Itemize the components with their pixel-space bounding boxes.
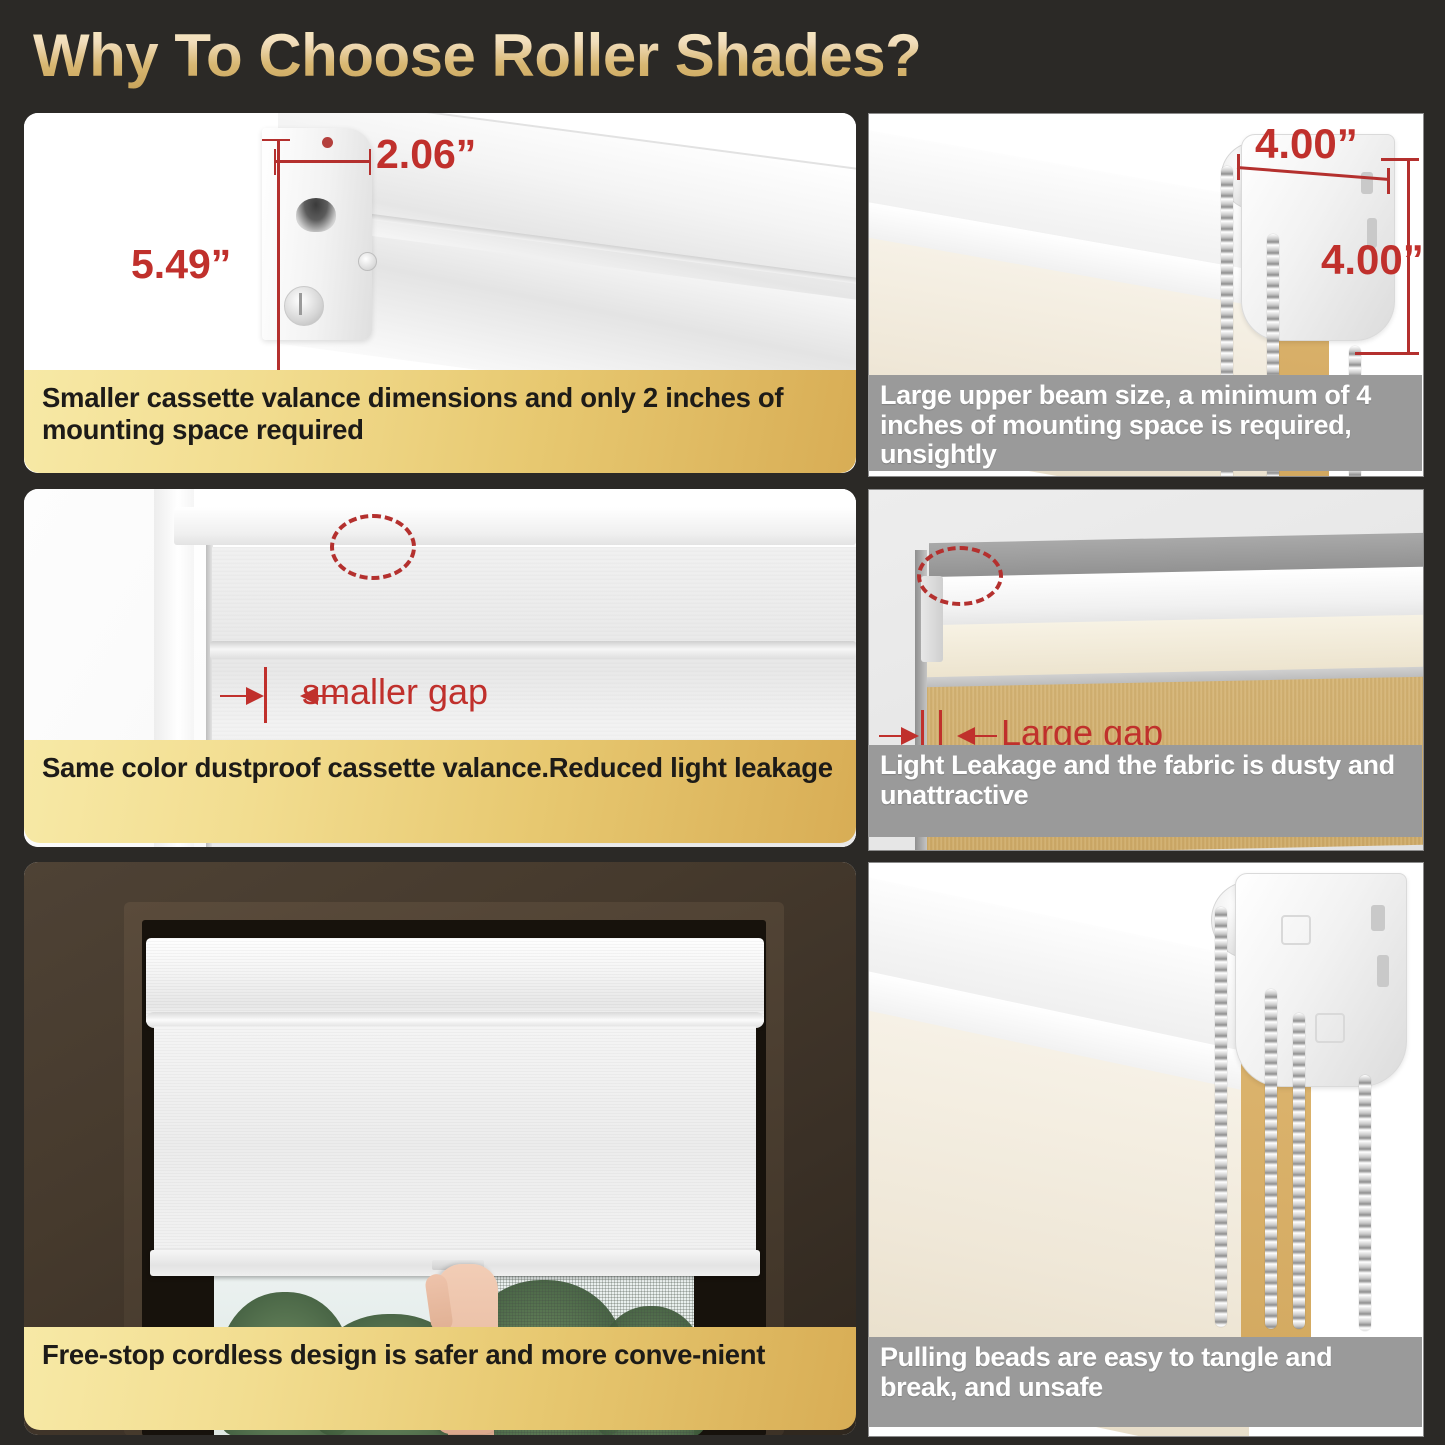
bracket-emboss-lower: [1315, 1013, 1345, 1043]
caption-text: Light Leakage and the fabric is dusty an…: [880, 750, 1402, 810]
caption-light-leakage-dusty-fabric: Light Leakage and the fabric is dusty an…: [868, 745, 1422, 837]
bead-chain-left: [1215, 907, 1227, 1327]
dimension-label-4-00-depth: 4.00”: [1321, 236, 1424, 284]
caption-text: Smaller cassette valance dimensions and …: [42, 382, 791, 445]
caption-text: Same color dustproof cassette valance.Re…: [42, 752, 833, 783]
dim-line-horizontal: [274, 160, 371, 163]
valance-slot-hole: [296, 198, 336, 232]
roller-shade-fabric: [154, 1026, 756, 1264]
valance-screw-small: [358, 252, 377, 271]
gap-marker: [264, 667, 267, 723]
caption-pulling-beads-unsafe: Pulling beads are easy to tangle and bre…: [868, 1337, 1422, 1427]
caption-large-upper-beam: Large upper beam size, a minimum of 4 in…: [868, 375, 1422, 471]
bracket-slot-lower: [1377, 955, 1389, 987]
caption-text: Pulling beads are easy to tangle and bre…: [880, 1342, 1339, 1402]
caption-text: Free-stop cordless design is safer and m…: [42, 1339, 765, 1370]
dashed-circle-annotation: [917, 546, 1003, 606]
dashed-circle-annotation: [330, 514, 416, 580]
dim-tick-v-top: [262, 139, 290, 141]
bracket-slot-upper: [1371, 905, 1385, 931]
window-head-casing: [174, 507, 856, 545]
dim-tick-v-top: [1381, 158, 1419, 161]
caption-cassette-valance-dimensions: Smaller cassette valance dimensions and …: [24, 370, 856, 473]
gap-arrow-left-icon: [220, 677, 290, 713]
caption-free-stop-cordless-design: Free-stop cordless design is safer and m…: [24, 1327, 856, 1430]
bead-chain-middle: [1265, 989, 1277, 1329]
dimension-label-2-06: 2.06”: [376, 131, 476, 178]
bead-chain-middle-2: [1293, 1013, 1305, 1329]
caption-dustproof-cassette-valance: Same color dustproof cassette valance.Re…: [24, 740, 856, 843]
caption-text: Large upper beam size, a minimum of 4 in…: [880, 380, 1378, 469]
valance-screw: [284, 286, 324, 326]
bead-chain-right: [1359, 1075, 1371, 1331]
bracket-emboss-upper: [1281, 915, 1311, 945]
page-title: Why To Choose Roller Shades?: [33, 20, 1233, 92]
callout-smaller-gap: smaller gap: [302, 671, 488, 713]
dimension-label-5-49: 5.49”: [131, 241, 231, 288]
mount-dot: [322, 137, 333, 148]
shade-mid-rail: [210, 641, 856, 659]
dimension-label-4-00-width: 4.00”: [1255, 120, 1358, 168]
